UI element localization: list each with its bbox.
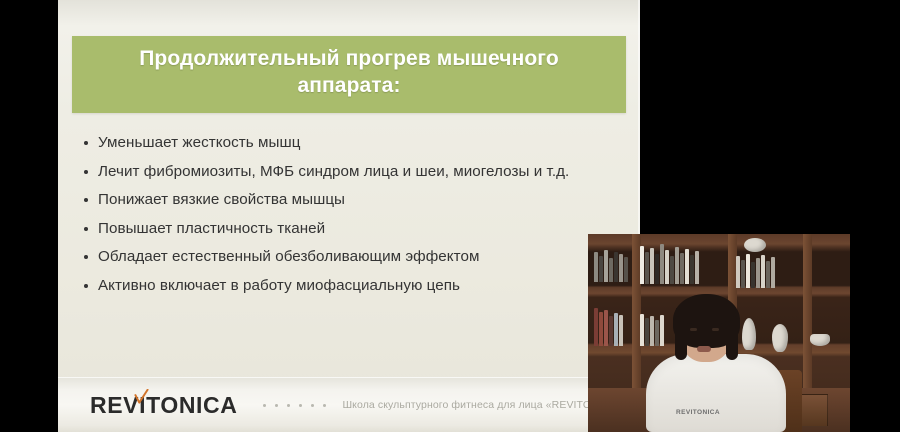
presenter: REVITONICA	[640, 292, 790, 432]
list-item: Обладает естественный обезболивающим эфф…	[80, 246, 620, 268]
video-player-frame: Продолжительный прогрев мышечного аппара…	[0, 0, 900, 432]
book-row	[594, 306, 632, 346]
shirt-logo: REVITONICA	[676, 409, 720, 416]
decorative-ornament	[744, 238, 766, 252]
torso-shirt: REVITONICA	[646, 354, 786, 432]
slide-bullet-list: Уменьшает жесткость мышц Лечит фибромиоз…	[76, 132, 626, 303]
footer-dot-separator	[263, 404, 326, 407]
bangs	[676, 308, 736, 324]
eye-right	[712, 328, 719, 331]
footer-tagline: Школа скульптурного фитнеса для лица «RE…	[342, 399, 622, 411]
logo-text-before: RE	[90, 392, 123, 418]
presentation-slide: Продолжительный прогрев мышечного аппара…	[58, 0, 640, 432]
book-row	[640, 242, 724, 284]
dot-icon	[287, 404, 290, 407]
webcam-overlay[interactable]: REVITONICA	[588, 234, 900, 432]
mouth	[697, 346, 711, 352]
letterbox-bar	[850, 234, 900, 432]
slide-title-band: Продолжительный прогрев мышечного аппара…	[72, 36, 626, 113]
logo-text-v: V	[123, 392, 139, 418]
decorative-bowl	[810, 334, 830, 346]
list-item: Лечит фибромиозиты, МФБ синдром лица и ш…	[80, 161, 620, 183]
slide-footer: REVITONICA Школа скульптурного фитнеса д…	[58, 377, 640, 432]
logo-text-after: ITONICA	[139, 392, 237, 418]
list-item: Активно включает в работу миофасциальную…	[80, 275, 620, 297]
dot-icon	[299, 404, 302, 407]
webcam-video: REVITONICA	[588, 234, 850, 432]
book-row	[594, 248, 630, 282]
dot-icon	[311, 404, 314, 407]
list-item: Уменьшает жесткость мышц	[80, 132, 620, 154]
list-item: Понижает вязкие свойства мышцы	[80, 189, 620, 211]
dot-icon	[275, 404, 278, 407]
dot-icon	[263, 404, 266, 407]
revitonica-logo: REVITONICA	[90, 392, 237, 419]
eye-left	[690, 328, 697, 331]
book-row	[736, 252, 796, 288]
dot-icon	[323, 404, 326, 407]
list-item: Повышает пластичность тканей	[80, 218, 620, 240]
page-title: Продолжительный прогрев мышечного аппара…	[86, 45, 612, 100]
